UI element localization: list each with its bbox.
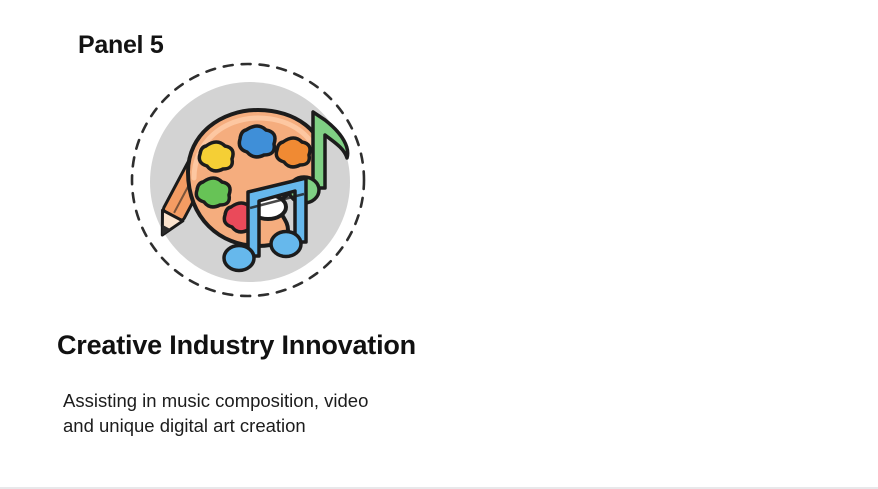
panel-left: Panel 5 bbox=[0, 0, 439, 487]
paint-blob-orange bbox=[276, 138, 310, 167]
panel-tag-left: Panel 5 bbox=[78, 31, 163, 60]
paint-blob-green bbox=[196, 178, 230, 207]
panel-right: Panel 5 bbox=[439, 0, 878, 487]
art-palette-music-illustration bbox=[128, 60, 368, 300]
slide-canvas: Panel 5 bbox=[0, 0, 878, 487]
panel-body-left: Assisting in music composition, video an… bbox=[63, 388, 433, 438]
paint-blob-blue bbox=[239, 126, 275, 157]
paint-blob-yellow bbox=[199, 142, 233, 171]
panel-heading-left: Creative Industry Innovation bbox=[57, 330, 416, 361]
